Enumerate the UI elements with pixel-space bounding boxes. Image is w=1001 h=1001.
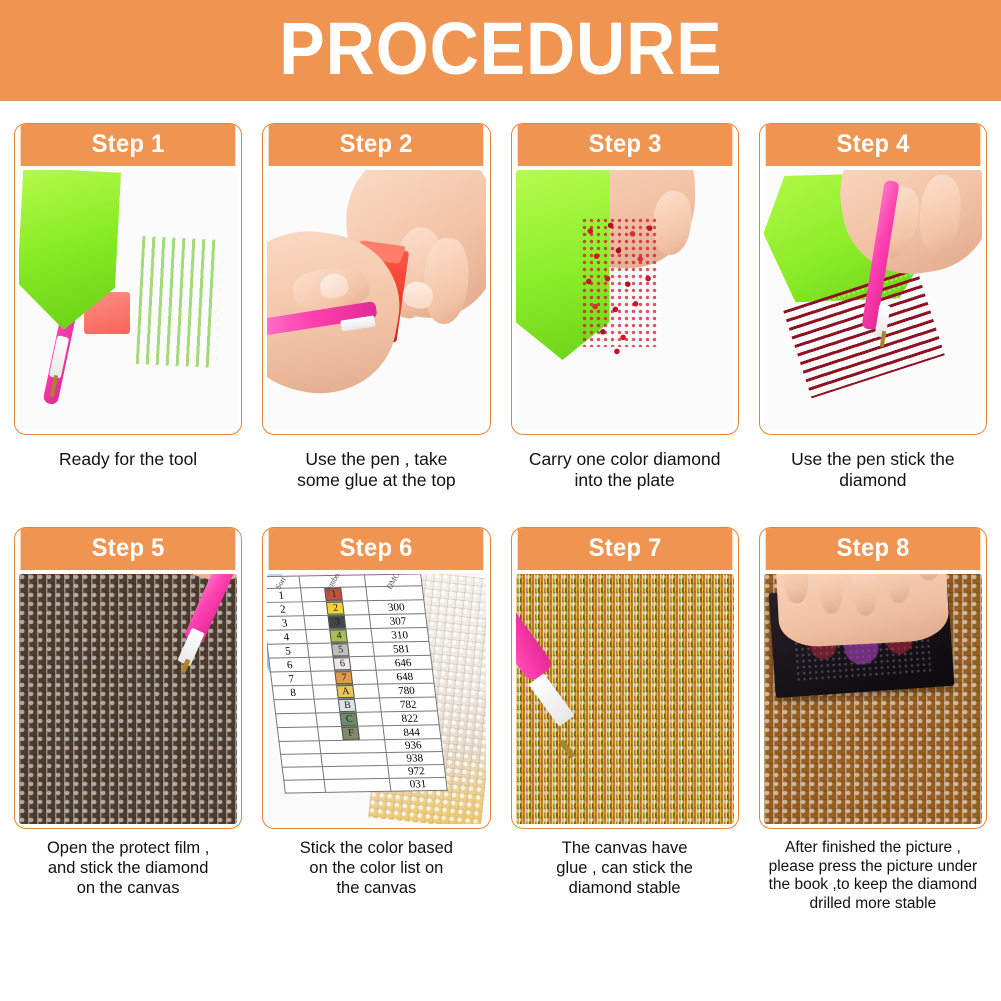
step-card-7: Step 7 The canvas have glue , can stick …: [511, 527, 739, 917]
chart-cell-symbol: [319, 740, 386, 754]
step-card-6: Step 6 Sort Symbol DMC: [262, 527, 490, 917]
color-swatch: C: [340, 713, 359, 726]
step-8-caption-line-3: the book ,to keep the diamond: [761, 876, 985, 895]
color-swatch: B: [338, 699, 357, 712]
page-title: PROCEDURE: [279, 12, 722, 90]
step-card-5: Step 5 Open the protect film , and stick…: [14, 527, 242, 917]
chart-cell-dmc: 936: [384, 739, 441, 753]
finger-icon: [884, 574, 913, 604]
chart-cell-dmc: 646: [374, 655, 432, 670]
chart-cell-symbol: C: [315, 712, 382, 727]
chart-cell-sort: 7: [270, 671, 312, 686]
step-4-photo: [764, 170, 982, 430]
step-5-header: Step 5: [21, 528, 236, 570]
color-swatch: A: [336, 685, 355, 698]
chart-cell-dmc: 822: [381, 711, 439, 726]
glue-dipping-scene: [267, 170, 485, 430]
chart-cell-sort: [274, 699, 316, 714]
chart-cell-symbol: 6: [309, 656, 376, 671]
step-2-caption-line-2: some glue at the top: [264, 470, 488, 491]
step-4-caption-line-1: Use the pen stick the: [761, 449, 985, 470]
step-8-caption-line-4: drilled more stable: [761, 895, 985, 914]
chart-cell-symbol: 3: [303, 615, 370, 630]
chart-cell-symbol: B: [314, 698, 381, 713]
chart-cell-sort: 3: [267, 616, 305, 631]
color-swatch: F: [341, 727, 360, 740]
step-1-photo: [19, 170, 237, 430]
chart-cell-sort: 8: [272, 685, 314, 700]
step-6-card: Step 6 Sort Symbol DMC: [262, 527, 490, 829]
step-1-header: Step 1: [21, 124, 236, 166]
chart-cell-symbol: 7: [310, 670, 377, 685]
step-2-caption: Use the pen , take some glue at the top: [262, 435, 490, 527]
step-card-3: Step 3 Carry one color diamond into the …: [511, 123, 739, 527]
chart-cell-dmc: 782: [379, 697, 437, 712]
chart-cell-symbol: A: [312, 684, 379, 699]
color-swatch: 3: [328, 615, 347, 628]
step-4-caption-line-2: diamond: [761, 470, 985, 491]
steps-grid: Step 1 Ready for the tool Step 2: [0, 101, 1001, 917]
step-5-photo: [19, 574, 237, 824]
dmc-color-chart: Sort Symbol DMC 112230033307443105558166…: [267, 574, 447, 794]
finger-icon: [914, 574, 942, 581]
step-1-caption: Ready for the tool: [14, 435, 242, 527]
step-6-caption-line-2: on the color list on: [264, 859, 488, 879]
chart-cell-sort: 4: [267, 630, 307, 645]
color-swatch: 2: [326, 602, 345, 615]
step-7-caption: The canvas have glue , can stick the dia…: [511, 829, 739, 917]
step-5-caption: Open the protect film , and stick the di…: [14, 829, 242, 917]
step-4-caption: Use the pen stick the diamond: [759, 435, 987, 527]
step-5-card: Step 5: [14, 527, 242, 829]
step-2-photo: [267, 170, 485, 430]
step-5-caption-line-1: Open the protect film ,: [16, 839, 240, 859]
step-6-header: Step 6: [269, 528, 484, 570]
step-4-header: Step 4: [765, 124, 980, 166]
hand-icon: [774, 574, 950, 648]
step-card-8: Step 8: [759, 527, 987, 917]
step-8-caption: After finished the picture , please pres…: [759, 829, 987, 917]
chart-cell-symbol: [322, 765, 389, 779]
finger-icon: [850, 574, 879, 617]
pen-picking-diamond-scene: [764, 170, 982, 430]
chart-cell-sort: 2: [267, 602, 303, 617]
step-7-header: Step 7: [517, 528, 732, 570]
color-swatch: 7: [334, 671, 353, 684]
step-5-caption-line-3: on the canvas: [16, 879, 240, 899]
step-card-2: Step 2 Use the pen , take: [262, 123, 490, 527]
step-8-caption-line-1: After finished the picture ,: [761, 839, 985, 858]
colored-drills-scene: [516, 574, 734, 824]
chart-cell-dmc: 972: [387, 764, 444, 778]
chart-cell-sort: [279, 741, 321, 755]
chart-cell-sort: [280, 754, 322, 768]
tool-kit-scene: [19, 170, 237, 430]
step-7-caption-line-3: diamond stable: [513, 879, 737, 899]
chart-cell-dmc: 648: [376, 669, 434, 684]
step-5-caption-line-2: and stick the diamond: [16, 859, 240, 879]
step-6-caption-line-3: the canvas: [264, 879, 488, 899]
step-3-card: Step 3: [511, 123, 739, 435]
tray-grooves-icon: [136, 236, 223, 368]
chart-cell-dmc: 310: [371, 628, 429, 643]
chart-cell-symbol: [323, 778, 390, 792]
chart-cell-sort: 5: [267, 644, 308, 659]
step-7-photo: [516, 574, 734, 824]
chart-cell-sort: [283, 779, 325, 793]
step-7-card: Step 7: [511, 527, 739, 829]
step-3-caption: Carry one color diamond into the plate: [511, 435, 739, 527]
chart-cell-dmc: 780: [377, 683, 435, 698]
chart-cell-dmc: 844: [382, 725, 440, 740]
page-banner: PROCEDURE: [0, 0, 1001, 101]
chart-cell-dmc: 581: [372, 641, 430, 656]
chart-cell-symbol: 5: [307, 642, 374, 657]
chart-cell-dmc: 031: [389, 777, 446, 791]
chart-body: 112230033307443105558166646776488A780B78…: [267, 586, 446, 793]
pressing-book-scene: [764, 574, 982, 824]
tray-with-diamonds-scene: [516, 170, 734, 430]
step-3-caption-line-1: Carry one color diamond: [513, 449, 737, 470]
step-7-caption-line-2: glue , can stick the: [513, 859, 737, 879]
step-6-photo: Sort Symbol DMC 112230033307443105558166…: [267, 574, 485, 824]
step-6-caption-line-1: Stick the color based: [264, 839, 488, 859]
step-2-header: Step 2: [269, 124, 484, 166]
step-8-caption-line-2: please press the picture under: [761, 858, 985, 877]
chart-cell-dmc: 938: [386, 752, 443, 766]
chart-cell-symbol: F: [317, 726, 384, 741]
finger-icon: [816, 574, 845, 614]
chart-cell-symbol: 4: [305, 628, 372, 643]
step-3-header: Step 3: [517, 124, 732, 166]
chart-cell-sort: [282, 767, 324, 781]
color-swatch: 6: [333, 657, 352, 670]
step-8-header: Step 8: [765, 528, 980, 570]
chart-cell-sort: 6: [268, 657, 310, 672]
step-1-card: Step 1: [14, 123, 242, 435]
color-swatch: 4: [329, 629, 348, 642]
step-7-caption-line-1: The canvas have: [513, 839, 737, 859]
step-3-photo: [516, 170, 734, 430]
step-8-card: Step 8: [759, 527, 987, 829]
chart-cell-sort: [277, 727, 319, 742]
step-card-1: Step 1 Ready for the tool: [14, 123, 242, 527]
chart-cell-dmc: 307: [369, 614, 427, 629]
chart-cell-symbol: [320, 753, 387, 767]
step-3-caption-line-2: into the plate: [513, 470, 737, 491]
sunflower-canvas-scene: [19, 574, 237, 824]
step-8-photo: [764, 574, 982, 824]
step-4-card: Step 4: [759, 123, 987, 435]
chart-row: 031: [283, 777, 446, 793]
finger-icon: [782, 574, 810, 604]
color-swatch: 5: [331, 643, 350, 656]
red-diamond-highlights-icon: [581, 217, 659, 357]
chart-cell-sort: [275, 713, 317, 728]
step-6-caption: Stick the color based on the color list …: [262, 829, 490, 917]
step-2-card: Step 2: [262, 123, 490, 435]
step-card-4: Step 4 Use the pen stick the diamond: [759, 123, 987, 527]
step-2-caption-line-1: Use the pen , take: [264, 449, 488, 470]
color-chart-scene: Sort Symbol DMC 112230033307443105558166…: [267, 574, 485, 824]
